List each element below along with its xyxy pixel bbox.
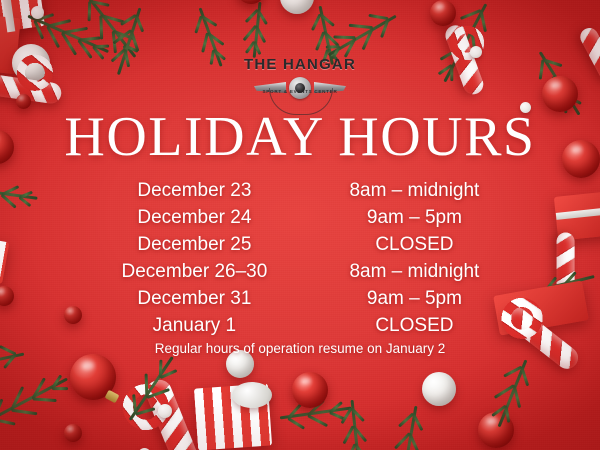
holiday-hours-poster: THE HANGAR SPORT & EVENTS CENTER HOLIDAY…	[0, 0, 600, 450]
hours-row: December 25 CLOSED	[80, 234, 520, 261]
hours-time: 9am – 5pm	[309, 207, 520, 229]
hours-date: January 1	[80, 315, 309, 337]
brand-logo: THE HANGAR SPORT & EVENTS CENTER	[0, 57, 600, 99]
hours-time: CLOSED	[309, 315, 520, 337]
hours-date: December 31	[80, 288, 309, 310]
hours-row: January 1 CLOSED	[80, 315, 520, 342]
poster-content: THE HANGAR SPORT & EVENTS CENTER HOLIDAY…	[0, 0, 600, 450]
footer-note: Regular hours of operation resume on Jan…	[0, 341, 600, 356]
hours-row: December 23 8am – midnight	[80, 180, 520, 207]
hours-date: December 26–30	[80, 261, 309, 283]
hours-row: December 26–30 8am – midnight	[80, 261, 520, 288]
hours-date: December 25	[80, 234, 309, 256]
holiday-hours-list: December 23 8am – midnight December 24 9…	[80, 180, 520, 342]
winged-roundel-emblem-icon: SPORT & EVENTS CENTER	[254, 75, 346, 99]
logo-wordmark: THE HANGAR	[0, 57, 600, 72]
logo-arc-text: SPORT & EVENTS CENTER	[254, 89, 346, 94]
hours-time: 9am – 5pm	[309, 288, 520, 310]
page-title: HOLIDAY HOURS	[0, 109, 600, 165]
hours-date: December 23	[80, 180, 309, 202]
hours-time: 8am – midnight	[309, 261, 520, 283]
hours-row: December 24 9am – 5pm	[80, 207, 520, 234]
hours-row: December 31 9am – 5pm	[80, 288, 520, 315]
hours-time: CLOSED	[309, 234, 520, 256]
hours-date: December 24	[80, 207, 309, 229]
hours-time: 8am – midnight	[309, 180, 520, 202]
